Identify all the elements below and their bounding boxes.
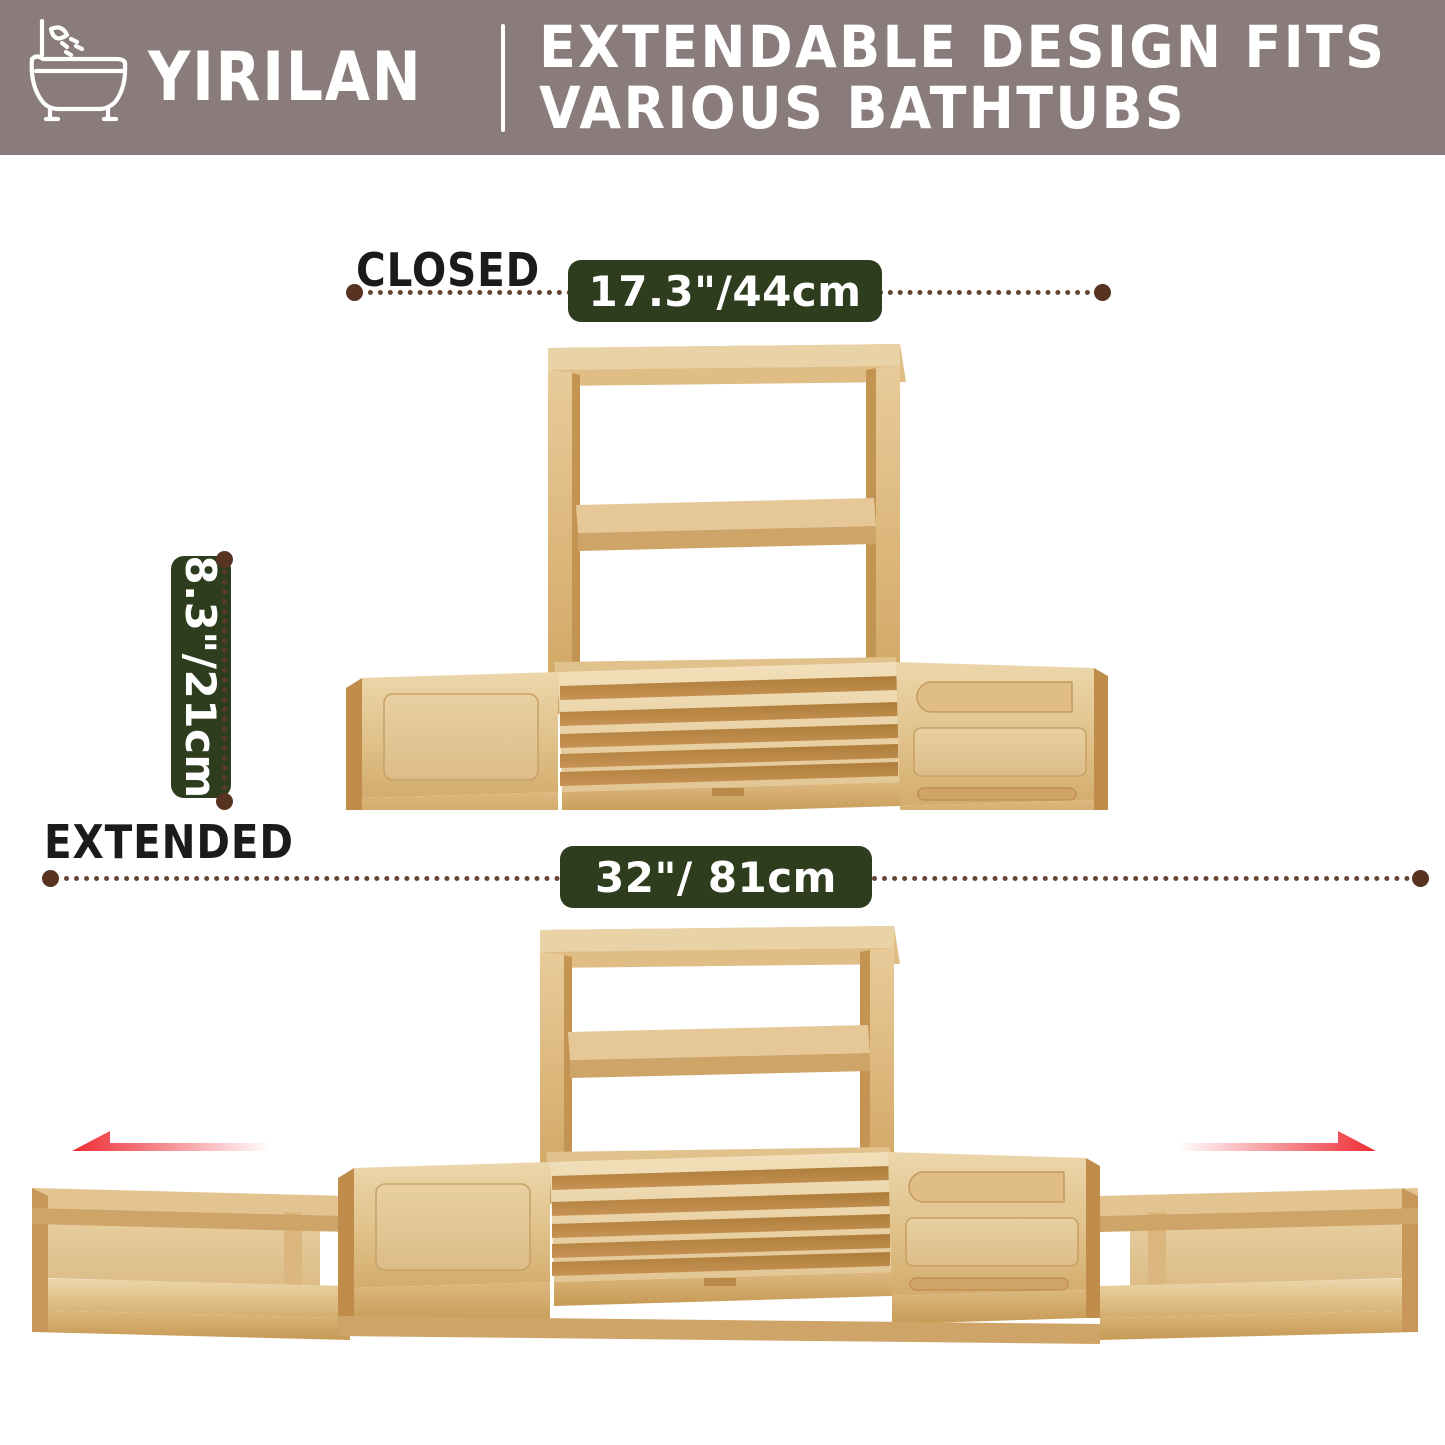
right-recessed-tray	[906, 1218, 1078, 1266]
slatted-center-panel	[550, 1152, 892, 1306]
closed-width-dim-line-right	[878, 290, 1100, 295]
left-recessed-tray	[346, 672, 558, 810]
right-extension-wing	[1100, 1188, 1418, 1340]
headline: EXTENDABLE DESIGN FITS VARIOUS BATHTUBS	[539, 17, 1386, 138]
brand-name: YIRILAN	[148, 38, 422, 117]
right-panel	[888, 1152, 1100, 1324]
closed-width-badge: 17.3"/44cm	[568, 260, 882, 322]
left-recessed-tray	[338, 1162, 550, 1326]
bath-tray-closed	[340, 330, 1120, 810]
closed-dim-dot-right	[1094, 284, 1111, 301]
phone-tablet-groove	[918, 788, 1076, 800]
height-dim-line	[222, 560, 227, 800]
left-extension-wing	[32, 1188, 350, 1340]
extended-dim-dot-right	[1412, 870, 1429, 887]
header-banner: YIRILAN EXTENDABLE DESIGN FITS VARIOUS B…	[0, 0, 1445, 155]
book-tablet-stand	[548, 344, 906, 714]
height-dim-dot-top	[216, 551, 233, 568]
closed-dim-dot-left	[346, 284, 363, 301]
wine-glass-slot	[917, 682, 1072, 712]
closed-state-label: CLOSED	[356, 243, 540, 297]
bath-tray-extended	[20, 920, 1430, 1430]
extended-width-dim-line-left	[54, 876, 560, 881]
extended-dim-dot-left	[42, 870, 59, 887]
slatted-center-panel	[558, 662, 900, 810]
extended-width-badge: 32"/ 81cm	[560, 846, 872, 908]
extended-width-dim-line-right	[872, 876, 1420, 881]
closed-width-dim-line-left	[358, 290, 572, 295]
headline-line-2: VARIOUS BATHTUBS	[539, 78, 1386, 138]
right-recessed-tray	[914, 728, 1086, 776]
wine-glass-slot	[909, 1172, 1064, 1202]
banner-divider	[501, 24, 505, 132]
bathtub-shower-icon	[22, 19, 134, 141]
extended-state-label: EXTENDED	[44, 815, 294, 869]
right-panel	[896, 662, 1108, 810]
headline-line-1: EXTENDABLE DESIGN FITS	[539, 13, 1386, 81]
phone-tablet-groove	[910, 1278, 1068, 1290]
height-dim-dot-bottom	[216, 793, 233, 810]
